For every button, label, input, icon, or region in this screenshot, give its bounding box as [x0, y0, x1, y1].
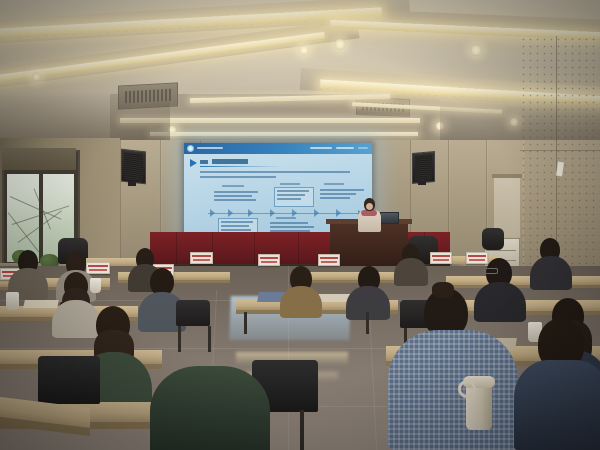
diagram-callout-line — [277, 190, 309, 192]
diagram-callout-line — [221, 229, 251, 231]
chair-black — [482, 228, 504, 250]
name-card — [430, 252, 452, 264]
speaker-bracket-left — [128, 181, 136, 186]
slide-body-line — [200, 176, 276, 178]
chair-black — [176, 300, 210, 326]
timeline-chevron — [336, 209, 341, 217]
window-roller-blind[interactable] — [2, 148, 76, 170]
slide-title-text — [200, 160, 208, 164]
attendee-bun — [432, 282, 454, 298]
eyeglasses-icon — [484, 268, 498, 274]
name-card — [466, 252, 488, 264]
slide-header-right-text — [358, 147, 368, 149]
slide-logo-icon — [187, 145, 194, 152]
paper-cup — [90, 278, 101, 293]
diagram-column-heading — [222, 185, 244, 187]
slide-title-bullet-icon — [190, 159, 197, 167]
attendee-body — [52, 300, 100, 338]
slide-header-right-text — [336, 147, 354, 149]
timeline-chevron — [210, 209, 215, 217]
diagram-bullet-line — [320, 193, 356, 195]
presenter-laptop — [380, 212, 399, 224]
diagram-callout-line — [277, 198, 301, 200]
timeline-chevron — [228, 209, 233, 217]
diagram-bullet-line — [214, 191, 258, 193]
slide-body-line — [200, 171, 350, 173]
attendee-body-foreground — [514, 360, 600, 450]
doorway-frame — [492, 174, 522, 178]
diagram-bullet-line — [214, 195, 252, 197]
speaker-bracket-right — [418, 180, 426, 185]
slide-title-underline — [200, 166, 282, 167]
table-leg — [366, 312, 369, 334]
attendee-body — [474, 282, 526, 322]
attendee-body — [394, 258, 428, 286]
notebook — [23, 300, 59, 308]
diagram-bullet-line — [270, 226, 314, 228]
downlight — [32, 72, 41, 81]
chair-black — [38, 356, 100, 404]
diagram-bullet-line — [320, 197, 350, 199]
chair-leg — [300, 410, 304, 450]
name-card — [318, 254, 340, 266]
timeline-chevron — [270, 209, 275, 217]
attendee-body-foreground — [150, 366, 270, 450]
name-card — [258, 254, 280, 266]
table-edge — [446, 285, 600, 288]
table-leg — [178, 326, 181, 352]
presenter-face — [366, 203, 373, 210]
table-leg — [208, 326, 211, 352]
attendee-body-foreground — [388, 330, 518, 450]
timeline-chevron — [292, 209, 297, 217]
diagram-callout-line — [277, 194, 305, 196]
diagram-column-heading — [280, 183, 300, 185]
attendee-body — [530, 256, 572, 290]
paper-cup — [6, 292, 19, 310]
downlight — [299, 45, 309, 55]
conference-room-photo — [0, 0, 600, 450]
thermos-handle — [458, 380, 476, 398]
diagram-bullet-line — [214, 199, 256, 201]
diagram-column-heading — [276, 217, 296, 219]
name-card — [190, 252, 213, 264]
wood-panel-seam — [520, 150, 600, 151]
table-leg — [244, 312, 247, 334]
slide-header-right-text — [310, 147, 332, 149]
diagram-callout-line — [221, 225, 249, 227]
diagram-bullet-line — [270, 222, 308, 224]
slide-header-logo-text — [197, 147, 223, 149]
downlight — [470, 44, 482, 56]
wall-panel — [448, 140, 488, 270]
cabinet-shelf-line — [486, 250, 516, 251]
diagram-column-heading — [324, 183, 344, 185]
diagram-callout-line — [221, 221, 253, 223]
name-card — [86, 262, 110, 274]
timeline-chevron — [314, 209, 319, 217]
diagram-bullet-line — [320, 189, 364, 191]
cove-light-strip — [150, 132, 418, 136]
downlight — [334, 38, 346, 50]
audience-table — [446, 276, 600, 285]
wall-speaker-left-icon — [121, 149, 146, 185]
attendee-body — [280, 286, 322, 318]
slide-title-text — [212, 159, 248, 164]
timeline-chevron — [248, 209, 253, 217]
